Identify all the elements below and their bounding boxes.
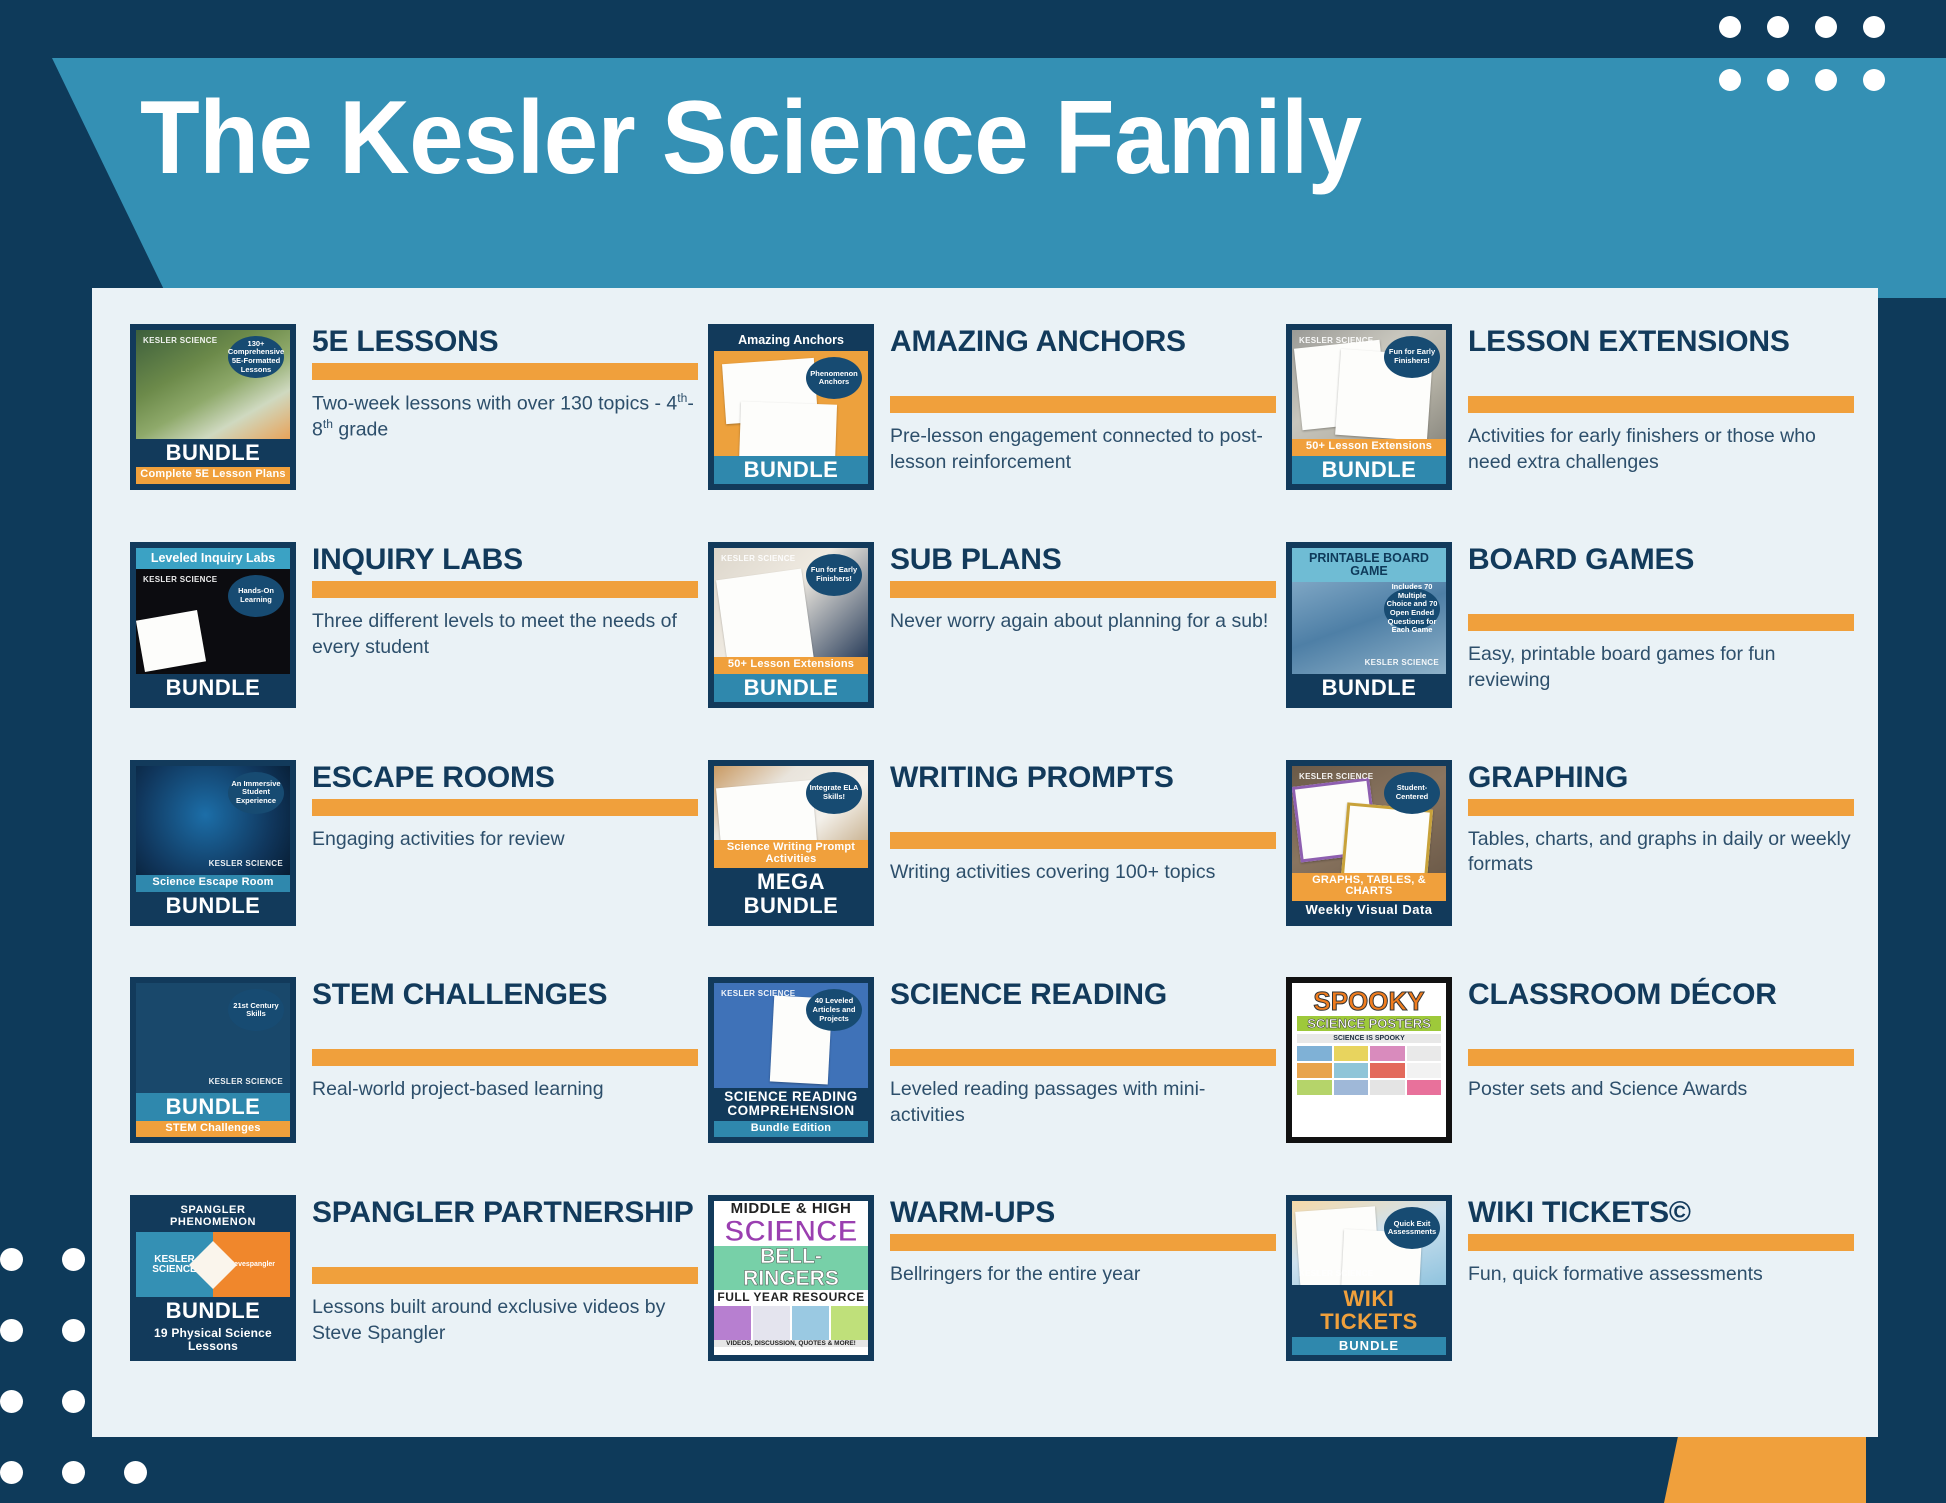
product-title: WRITING PROMPTS xyxy=(890,762,1276,828)
product-description: Bellringers for the entire year xyxy=(890,1262,1276,1288)
product-item-amazing-anchors[interactable]: Amazing Anchors Phenomenon Anchors BUNDL… xyxy=(708,324,1276,542)
thumbnail-badge: 21st Century Skills xyxy=(228,989,284,1031)
thumbnail-badge: Fun for Early Finishers! xyxy=(806,554,862,596)
title-underline-bar xyxy=(890,1049,1276,1066)
bellringer-line-4: FULL YEAR RESOURCE xyxy=(714,1290,868,1304)
product-title: AMAZING ANCHORS xyxy=(890,326,1276,392)
thumbnail-bundle-label: BUNDLE xyxy=(1292,674,1446,702)
thumbnail-bundle-label: BUNDLE xyxy=(136,439,290,467)
product-item-escape-rooms[interactable]: An Immersive Student Experience KESLER S… xyxy=(130,760,698,978)
thumbnail-sub-label: STEM Challenges xyxy=(136,1121,290,1138)
kesler-science-logo-icon: KESLER SCIENCE xyxy=(721,990,795,998)
product-item-classroom-decor[interactable]: SPOOKY SCIENCE POSTERS SCIENCE IS SPOOKY xyxy=(1286,977,1854,1195)
product-title: SUB PLANS xyxy=(890,544,1276,577)
decorative-dot xyxy=(1863,16,1885,38)
product-text: GRAPHING Tables, charts, and graphs in d… xyxy=(1468,760,1854,878)
product-text: CLASSROOM DÉCOR Poster sets and Science … xyxy=(1468,977,1854,1103)
thumbnail-bundle-label: BUNDLE xyxy=(136,892,290,920)
thumbnail-sub-label: 50+ Lesson Extensions xyxy=(714,657,868,674)
product-description: Real-world project-based learning xyxy=(312,1077,698,1103)
title-underline-bar xyxy=(1468,614,1854,631)
thumbnail-badge: Fun for Early Finishers! xyxy=(1384,336,1440,378)
product-description: Writing activities covering 100+ topics xyxy=(890,860,1276,886)
title-underline-bar xyxy=(312,363,698,380)
product-title: INQUIRY LABS xyxy=(312,544,698,577)
decorative-dot xyxy=(1767,69,1789,91)
thumbnail-art: Hands-On Learning KESLER SCIENCE xyxy=(136,569,290,674)
product-thumbnail[interactable]: PRINTABLE BOARD GAME Includes 70 Multipl… xyxy=(1286,542,1452,708)
kesler-science-logo-icon: KESLER SCIENCE xyxy=(143,576,217,584)
thumbnail-bundle-label: BUNDLE xyxy=(714,456,868,484)
product-text: BOARD GAMES Easy, printable board games … xyxy=(1468,542,1854,693)
thumbnail-sub-label: Complete 5E Lesson Plans xyxy=(136,467,290,484)
product-description: Two-week lessons with over 130 topics - … xyxy=(312,391,698,443)
thumbnail-bundle-label: BUNDLE xyxy=(1292,456,1446,484)
thumbnail-art: KESLER SCIENCE Fun for Early Finishers! xyxy=(1292,330,1446,439)
product-text: AMAZING ANCHORS Pre-lesson engagement co… xyxy=(890,324,1276,475)
thumbnail-bundle-label: BUNDLE xyxy=(136,674,290,702)
poster-banner: SCIENCE IS SPOOKY xyxy=(1297,1034,1441,1043)
product-item-board-games[interactable]: PRINTABLE BOARD GAME Includes 70 Multipl… xyxy=(1286,542,1854,760)
thumbnail-badge: Phenomenon Anchors xyxy=(806,357,862,399)
decorative-dot xyxy=(0,1248,23,1271)
title-underline-bar xyxy=(312,799,698,816)
title-underline-bar xyxy=(890,832,1276,849)
decorative-dot xyxy=(62,1390,85,1413)
product-title: CLASSROOM DÉCOR xyxy=(1468,979,1854,1045)
product-title: LESSON EXTENSIONS xyxy=(1468,326,1854,392)
product-item-science-reading[interactable]: KESLER SCIENCE 40 Leveled Articles and P… xyxy=(708,977,1276,1195)
product-thumbnail[interactable]: Amazing Anchors Phenomenon Anchors BUNDL… xyxy=(708,324,874,490)
product-description: Three different levels to meet the needs… xyxy=(312,609,698,660)
product-item-5e-lessons[interactable]: KESLER SCIENCE 130+ Comprehensive 5E-For… xyxy=(130,324,698,542)
thumbnail-sub-label: Bundle Edition xyxy=(714,1121,868,1138)
product-thumbnail[interactable]: KESLER SCIENCE Fun for Early Finishers! … xyxy=(708,542,874,708)
product-title: WIKI TICKETS© xyxy=(1468,1197,1854,1230)
thumbnail-bundle-label: BUNDLE xyxy=(714,674,868,702)
thumbnail-badge: An Immersive Student Experience xyxy=(228,772,284,814)
product-thumbnail[interactable]: An Immersive Student Experience KESLER S… xyxy=(130,760,296,926)
thumbnail-top-label: SPANGLER PHENOMENON xyxy=(136,1201,290,1232)
kesler-science-logo-icon: KESLER SCIENCE xyxy=(209,1078,283,1086)
product-thumbnail[interactable]: KESLER SCIENCE Quick Exit Assessments WI… xyxy=(1286,1195,1452,1361)
product-description: Pre-lesson engagement connected to post-… xyxy=(890,424,1276,475)
poster-subtitle: SCIENCE POSTERS xyxy=(1297,1016,1441,1031)
decorative-dot xyxy=(0,1319,23,1342)
product-title: 5E LESSONS xyxy=(312,326,698,359)
kesler-science-logo-icon: KESLER SCIENCE xyxy=(209,860,283,868)
page-title: The Kesler Science Family xyxy=(140,86,1362,190)
decorative-dot xyxy=(62,1461,85,1484)
title-underline-bar xyxy=(890,581,1276,598)
thumbnail-art: 21st Century Skills KESLER SCIENCE xyxy=(136,983,290,1092)
product-thumbnail[interactable]: Leveled Inquiry Labs Hands-On Learning K… xyxy=(130,542,296,708)
thumbnail-top-label: PRINTABLE BOARD GAME xyxy=(1292,548,1446,582)
decorative-dot xyxy=(1815,16,1837,38)
product-text: STEM CHALLENGES Real-world project-based… xyxy=(312,977,698,1103)
product-item-wiki-tickets[interactable]: KESLER SCIENCE Quick Exit Assessments WI… xyxy=(1286,1195,1854,1413)
product-description: Easy, printable board games for fun revi… xyxy=(1468,642,1854,693)
decorative-dot xyxy=(1863,69,1885,91)
thumbnail-art: MIDDLE & HIGH SCIENCE BELL-RINGERS FULL … xyxy=(714,1201,868,1355)
thumbnail-bundle-label: Weekly Visual Data xyxy=(1292,901,1446,920)
product-item-spangler-partnership[interactable]: SPANGLER PHENOMENON KESLER SCIENCE steve… xyxy=(130,1195,698,1413)
thumbnail-bundle-label: WIKI TICKETS xyxy=(1292,1285,1446,1336)
product-description: Engaging activities for review xyxy=(312,827,698,853)
poster-canvas: The Kesler Science Family KESLER SCIENCE… xyxy=(0,0,1946,1503)
decorative-dot xyxy=(62,1319,85,1342)
thumbnail-sub-label: 50+ Lesson Extensions xyxy=(1292,439,1446,456)
thumbnail-bundle-label: BUNDLE xyxy=(136,1093,290,1121)
decorative-dot xyxy=(0,1461,23,1484)
title-underline-bar xyxy=(1468,1049,1854,1066)
product-thumbnail[interactable]: SPANGLER PHENOMENON KESLER SCIENCE steve… xyxy=(130,1195,296,1361)
thumbnail-art: SPOOKY SCIENCE POSTERS SCIENCE IS SPOOKY xyxy=(1292,983,1446,1137)
product-description: Lessons built around exclusive videos by… xyxy=(312,1295,698,1346)
thumbnail-art: An Immersive Student Experience KESLER S… xyxy=(136,766,290,875)
decorative-dot xyxy=(1815,69,1837,91)
product-thumbnail[interactable]: SPOOKY SCIENCE POSTERS SCIENCE IS SPOOKY xyxy=(1286,977,1452,1143)
product-text: WRITING PROMPTS Writing activities cover… xyxy=(890,760,1276,886)
kesler-science-logo-icon: KESLER SCIENCE xyxy=(1299,773,1373,781)
product-description: Fun, quick formative assessments xyxy=(1468,1262,1854,1288)
product-text: SUB PLANS Never worry again about planni… xyxy=(890,542,1276,635)
products-grid: KESLER SCIENCE 130+ Comprehensive 5E-For… xyxy=(92,288,1878,1437)
thumbnail-art: KESLER SCIENCE Fun for Early Finishers! xyxy=(714,548,868,657)
product-thumbnail[interactable]: MIDDLE & HIGH SCIENCE BELL-RINGERS FULL … xyxy=(708,1195,874,1361)
thumbnail-badge: Includes 70 Multiple Choice and 70 Open … xyxy=(1384,588,1440,630)
product-description: Never worry again about planning for a s… xyxy=(890,609,1276,635)
title-underline-bar xyxy=(1468,396,1854,413)
product-text: WIKI TICKETS© Fun, quick formative asses… xyxy=(1468,1195,1854,1288)
product-description: Poster sets and Science Awards xyxy=(1468,1077,1854,1103)
product-thumbnail[interactable]: Integrate ELA Skills! Science Writing Pr… xyxy=(708,760,874,926)
product-text: INQUIRY LABS Three different levels to m… xyxy=(312,542,698,660)
thumbnail-sub-label: Science Writing Prompt Activities xyxy=(714,840,868,868)
product-thumbnail[interactable]: KESLER SCIENCE 40 Leveled Articles and P… xyxy=(708,977,874,1143)
thumbnail-art: Integrate ELA Skills! xyxy=(714,766,868,841)
product-title: GRAPHING xyxy=(1468,762,1854,795)
thumbnail-sub-label: Science Escape Room xyxy=(136,875,290,892)
product-text: WARM-UPS Bellringers for the entire year xyxy=(890,1195,1276,1288)
product-title: WARM-UPS xyxy=(890,1197,1276,1230)
product-title: ESCAPE ROOMS xyxy=(312,762,698,795)
thumbnail-bundle-label: BUNDLE xyxy=(136,1297,290,1325)
product-text: LESSON EXTENSIONS Activities for early f… xyxy=(1468,324,1854,475)
thumbnail-badge: 40 Leveled Articles and Projects xyxy=(806,989,862,1031)
product-item-writing-prompts[interactable]: Integrate ELA Skills! Science Writing Pr… xyxy=(708,760,1276,978)
product-thumbnail[interactable]: 21st Century Skills KESLER SCIENCE BUNDL… xyxy=(130,977,296,1143)
title-underline-bar xyxy=(890,396,1276,413)
thumbnail-badge: Quick Exit Assessments xyxy=(1384,1207,1440,1249)
thumbnail-badge: Hands-On Learning xyxy=(228,575,284,617)
product-item-sub-plans[interactable]: KESLER SCIENCE Fun for Early Finishers! … xyxy=(708,542,1276,760)
product-title: SPANGLER PARTNERSHIP xyxy=(312,1197,698,1263)
bellringer-footer: VIDEOS, DISCUSSION, QUOTES & MORE! xyxy=(714,1340,868,1347)
kesler-science-logo-icon: KESLER SCIENCE xyxy=(721,555,795,563)
product-text: ESCAPE ROOMS Engaging activities for rev… xyxy=(312,760,698,853)
kesler-science-logo-icon: KESLER SCIENCE xyxy=(1299,1270,1373,1278)
decorative-dot xyxy=(124,1461,147,1484)
product-text: SPANGLER PARTNERSHIP Lessons built aroun… xyxy=(312,1195,698,1346)
kesler-science-logo-icon: KESLER SCIENCE xyxy=(143,337,217,345)
product-text: SCIENCE READING Leveled reading passages… xyxy=(890,977,1276,1128)
product-thumbnail[interactable]: KESLER SCIENCE 130+ Comprehensive 5E-For… xyxy=(130,324,296,490)
title-underline-bar xyxy=(312,1049,698,1066)
thumbnail-sub-label: BUNDLE xyxy=(1292,1337,1446,1356)
decorative-dot xyxy=(62,1248,85,1271)
thumbnail-top-label: Leveled Inquiry Labs xyxy=(136,548,290,569)
thumbnail-bundle-label: MEGA BUNDLE xyxy=(714,868,868,919)
title-underline-bar xyxy=(890,1234,1276,1251)
kesler-science-logo-icon: KESLER SCIENCE xyxy=(1299,337,1373,345)
thumbnail-bundle-label: SCIENCE READING COMPREHENSION xyxy=(714,1088,868,1121)
decorative-dot xyxy=(1767,16,1789,38)
products-card: KESLER SCIENCE 130+ Comprehensive 5E-For… xyxy=(92,288,1878,1437)
product-description: Tables, charts, and graphs in daily or w… xyxy=(1468,827,1854,878)
product-item-lesson-extensions[interactable]: KESLER SCIENCE Fun for Early Finishers! … xyxy=(1286,324,1854,542)
title-underline-bar xyxy=(312,1267,698,1284)
poster-title: SPOOKY xyxy=(1297,988,1441,1014)
thumbnail-top-label: Amazing Anchors xyxy=(714,330,868,351)
thumbnail-art: KESLER SCIENCE stevespangler xyxy=(136,1232,290,1297)
product-description: Leveled reading passages with mini-activ… xyxy=(890,1077,1276,1128)
product-thumbnail[interactable]: KESLER SCIENCE Student-Centered GRAPHS, … xyxy=(1286,760,1452,926)
thumbnail-art: KESLER SCIENCE Quick Exit Assessments xyxy=(1292,1201,1446,1285)
product-thumbnail[interactable]: KESLER SCIENCE Fun for Early Finishers! … xyxy=(1286,324,1452,490)
thumbnail-art: Includes 70 Multiple Choice and 70 Open … xyxy=(1292,582,1446,674)
product-text: 5E LESSONS Two-week lessons with over 13… xyxy=(312,324,698,443)
thumbnail-badge: 130+ Comprehensive 5E-Formatted Lessons xyxy=(228,336,284,378)
thumbnail-art: Phenomenon Anchors xyxy=(714,351,868,456)
title-underline-bar xyxy=(1468,799,1854,816)
thumbnail-art: KESLER SCIENCE 40 Leveled Articles and P… xyxy=(714,983,868,1087)
product-title: SCIENCE READING xyxy=(890,979,1276,1045)
thumbnail-badge: Integrate ELA Skills! xyxy=(806,772,862,814)
thumbnail-badge: Student-Centered xyxy=(1384,772,1440,814)
thumbnail-art: KESLER SCIENCE Student-Centered xyxy=(1292,766,1446,873)
title-underline-bar xyxy=(1468,1234,1854,1251)
bellringer-line-3: BELL-RINGERS xyxy=(714,1246,868,1290)
product-title: BOARD GAMES xyxy=(1468,544,1854,610)
decorative-dot xyxy=(1719,69,1741,91)
thumbnail-sub-label: GRAPHS, TABLES, & CHARTS xyxy=(1292,873,1446,901)
bellringer-line-2: SCIENCE xyxy=(714,1218,868,1247)
product-item-inquiry-labs[interactable]: Leveled Inquiry Labs Hands-On Learning K… xyxy=(130,542,698,760)
product-title: STEM CHALLENGES xyxy=(312,979,698,1045)
decorative-dot xyxy=(0,1390,23,1413)
decorative-dot xyxy=(1719,16,1741,38)
kesler-science-logo-icon: KESLER SCIENCE xyxy=(1365,659,1439,667)
thumbnail-sub-label: 19 Physical Science Lessons xyxy=(136,1325,290,1355)
product-description: Activities for early finishers or those … xyxy=(1468,424,1854,475)
thumbnail-art: KESLER SCIENCE 130+ Comprehensive 5E-For… xyxy=(136,330,290,439)
product-item-warm-ups[interactable]: MIDDLE & HIGH SCIENCE BELL-RINGERS FULL … xyxy=(708,1195,1276,1413)
title-underline-bar xyxy=(312,581,698,598)
product-item-stem-challenges[interactable]: 21st Century Skills KESLER SCIENCE BUNDL… xyxy=(130,977,698,1195)
dot-grid-top-right xyxy=(1719,16,1911,122)
product-item-graphing[interactable]: KESLER SCIENCE Student-Centered GRAPHS, … xyxy=(1286,760,1854,978)
